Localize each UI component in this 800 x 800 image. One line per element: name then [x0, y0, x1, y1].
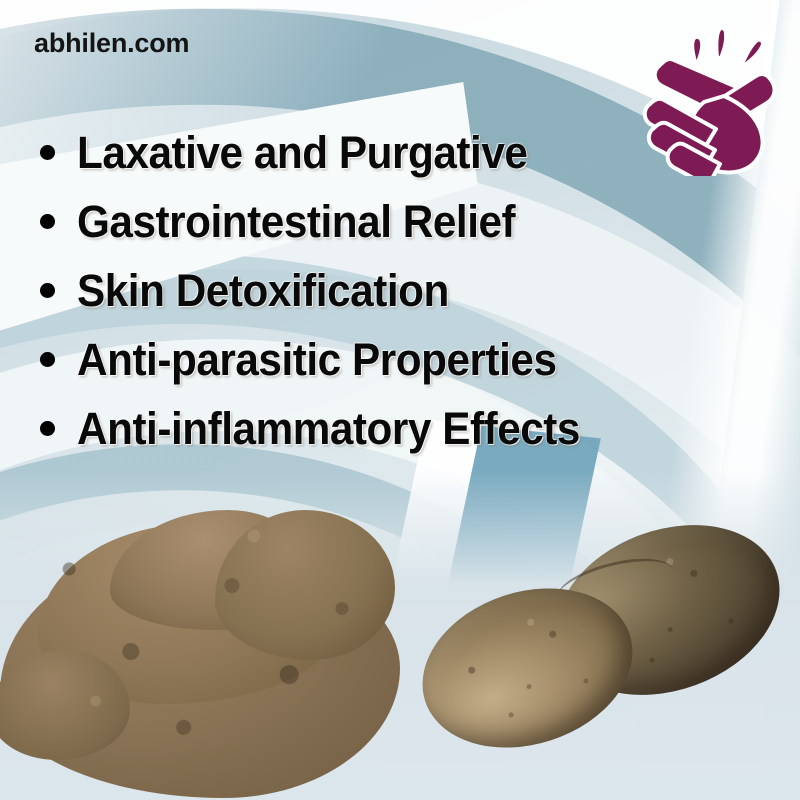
- list-item: Gastrointestinal Relief: [0, 187, 800, 256]
- powder-heap: [0, 470, 430, 800]
- benefit-label: Anti-inflammatory Effects: [77, 403, 580, 455]
- product-photo: [0, 440, 800, 800]
- list-item: Anti-parasitic Properties: [0, 325, 800, 394]
- benefit-label: Laxative and Purgative: [77, 127, 527, 179]
- bullet-icon: [40, 352, 55, 367]
- promo-poster: abhilen.com Lax: [0, 0, 800, 800]
- list-item: Skin Detoxification: [0, 256, 800, 325]
- bullet-icon: [40, 214, 55, 229]
- bullet-icon: [40, 283, 55, 298]
- snapping-fingers-hand-icon: [638, 16, 786, 176]
- bullet-icon: [40, 421, 55, 436]
- list-item: Anti-inflammatory Effects: [0, 394, 800, 463]
- powder-mass-left: [0, 650, 130, 760]
- benefit-label: Skin Detoxification: [77, 265, 449, 317]
- benefit-label: Gastrointestinal Relief: [77, 196, 515, 248]
- site-name: abhilen.com: [34, 28, 189, 59]
- bullet-icon: [40, 145, 55, 160]
- benefit-label: Anti-parasitic Properties: [77, 334, 557, 386]
